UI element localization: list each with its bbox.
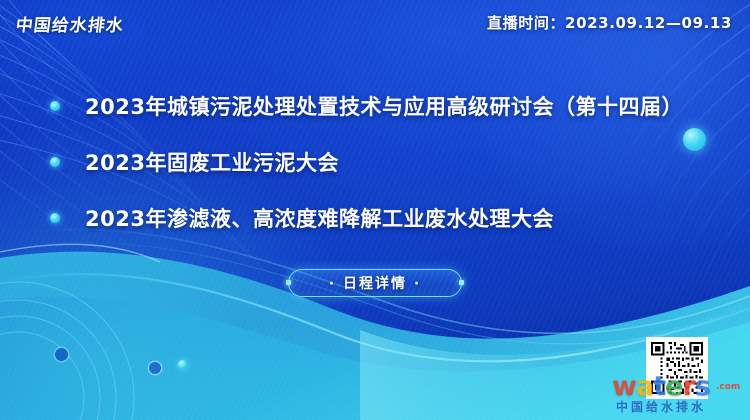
session-list: 2023年城镇污泥处理处置技术与应用高级研讨会（第十四届） 2023年固废工业污… (0, 78, 750, 246)
bullet-dot-icon (50, 157, 60, 167)
list-item[interactable]: 2023年城镇污泥处理处置技术与应用高级研讨会（第十四届） (0, 78, 750, 134)
schedule-details-label: · 日程详情 · (329, 273, 421, 293)
session-title: 2023年渗滤液、高浓度难降解工业废水处理大会 (85, 203, 554, 233)
decorative-circle-navy-a-icon (55, 348, 68, 361)
live-event-poster: 中国给水排水 直播时间：2023.09.12—09.13 2023年城镇污泥处理… (0, 0, 750, 420)
watermark-subtitle: 中国给水排水 (616, 398, 706, 415)
button-left-nub-icon (286, 280, 291, 285)
bullet-dot-icon (50, 213, 60, 223)
list-item[interactable]: 2023年固废工业污泥大会 (0, 134, 750, 190)
session-title: 2023年城镇污泥处理处置技术与应用高级研讨会（第十四届） (85, 91, 683, 121)
button-right-nub-icon (459, 280, 464, 285)
bullet-dot-icon (50, 101, 60, 111)
schedule-details-button[interactable]: · 日程详情 · (288, 269, 462, 297)
live-time-label: 直播时间：2023.09.12—09.13 (487, 12, 732, 33)
brand-logo: 中国给水排水 (14, 11, 125, 36)
session-title: 2023年固废工业污泥大会 (85, 147, 339, 177)
watermark-suffix: .com (716, 382, 740, 392)
decorative-circle-navy-b-icon (149, 362, 161, 374)
list-item[interactable]: 2023年渗滤液、高浓度难降解工业废水处理大会 (0, 190, 750, 246)
decorative-circle-small-icon (178, 360, 187, 369)
schedule-details-button-wrap: · 日程详情 · (288, 269, 462, 297)
watermark-wordmark: waters (612, 373, 710, 400)
